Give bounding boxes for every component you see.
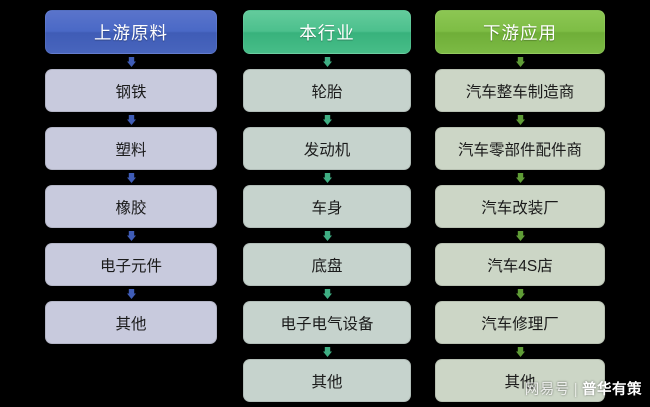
connector-arrow xyxy=(45,228,217,243)
connector-arrow xyxy=(243,228,411,243)
connector-arrow xyxy=(243,112,411,127)
chain-node[interactable]: 底盘 xyxy=(243,243,411,286)
chain-node[interactable]: 汽车整车制造商 xyxy=(435,69,605,112)
arrow-down-icon xyxy=(516,115,525,125)
arrow-down-icon xyxy=(323,115,332,125)
arrow-down-icon xyxy=(323,173,332,183)
industry-chain-diagram: 上游原料钢铁塑料橡胶电子元件其他本行业轮胎发动机车身底盘电子电气设备其他下游应用… xyxy=(0,0,650,407)
connector-arrow xyxy=(243,54,411,69)
arrow-down-icon xyxy=(127,115,136,125)
chain-node[interactable]: 其他 xyxy=(435,359,605,402)
chain-column-upstream: 上游原料钢铁塑料橡胶电子元件其他 xyxy=(45,0,217,344)
chain-node[interactable]: 轮胎 xyxy=(243,69,411,112)
arrow-down-icon xyxy=(127,231,136,241)
arrow-down-icon xyxy=(323,289,332,299)
connector-arrow xyxy=(45,112,217,127)
connector-arrow xyxy=(45,170,217,185)
chain-column-downstream: 下游应用汽车整车制造商汽车零部件配件商汽车改装厂汽车4S店汽车修理厂其他 xyxy=(435,0,605,402)
column-header-industry[interactable]: 本行业 xyxy=(243,10,411,54)
chain-node[interactable]: 钢铁 xyxy=(45,69,217,112)
connector-arrow xyxy=(45,286,217,301)
column-header-downstream[interactable]: 下游应用 xyxy=(435,10,605,54)
arrow-down-icon xyxy=(516,231,525,241)
chain-node[interactable]: 汽车修理厂 xyxy=(435,301,605,344)
arrow-down-icon xyxy=(127,173,136,183)
chain-node[interactable]: 汽车零部件配件商 xyxy=(435,127,605,170)
connector-arrow xyxy=(435,170,605,185)
connector-arrow xyxy=(243,286,411,301)
connector-arrow xyxy=(243,344,411,359)
chain-node[interactable]: 汽车改装厂 xyxy=(435,185,605,228)
arrow-down-icon xyxy=(127,57,136,67)
connector-arrow xyxy=(435,112,605,127)
arrow-down-icon xyxy=(127,289,136,299)
connector-arrow xyxy=(435,344,605,359)
connector-arrow xyxy=(243,170,411,185)
chain-node[interactable]: 塑料 xyxy=(45,127,217,170)
arrow-down-icon xyxy=(516,289,525,299)
connector-arrow xyxy=(435,286,605,301)
chain-node[interactable]: 其他 xyxy=(45,301,217,344)
column-header-upstream[interactable]: 上游原料 xyxy=(45,10,217,54)
chain-node[interactable]: 发动机 xyxy=(243,127,411,170)
chain-node[interactable]: 车身 xyxy=(243,185,411,228)
connector-arrow xyxy=(45,54,217,69)
chain-column-industry: 本行业轮胎发动机车身底盘电子电气设备其他 xyxy=(243,0,411,402)
chain-node[interactable]: 橡胶 xyxy=(45,185,217,228)
arrow-down-icon xyxy=(323,231,332,241)
chain-node[interactable]: 电子元件 xyxy=(45,243,217,286)
arrow-down-icon xyxy=(516,347,525,357)
chain-node[interactable]: 电子电气设备 xyxy=(243,301,411,344)
arrow-down-icon xyxy=(516,173,525,183)
chain-node[interactable]: 汽车4S店 xyxy=(435,243,605,286)
connector-arrow xyxy=(435,228,605,243)
connector-arrow xyxy=(435,54,605,69)
arrow-down-icon xyxy=(323,57,332,67)
arrow-down-icon xyxy=(323,347,332,357)
chain-node[interactable]: 其他 xyxy=(243,359,411,402)
arrow-down-icon xyxy=(516,57,525,67)
